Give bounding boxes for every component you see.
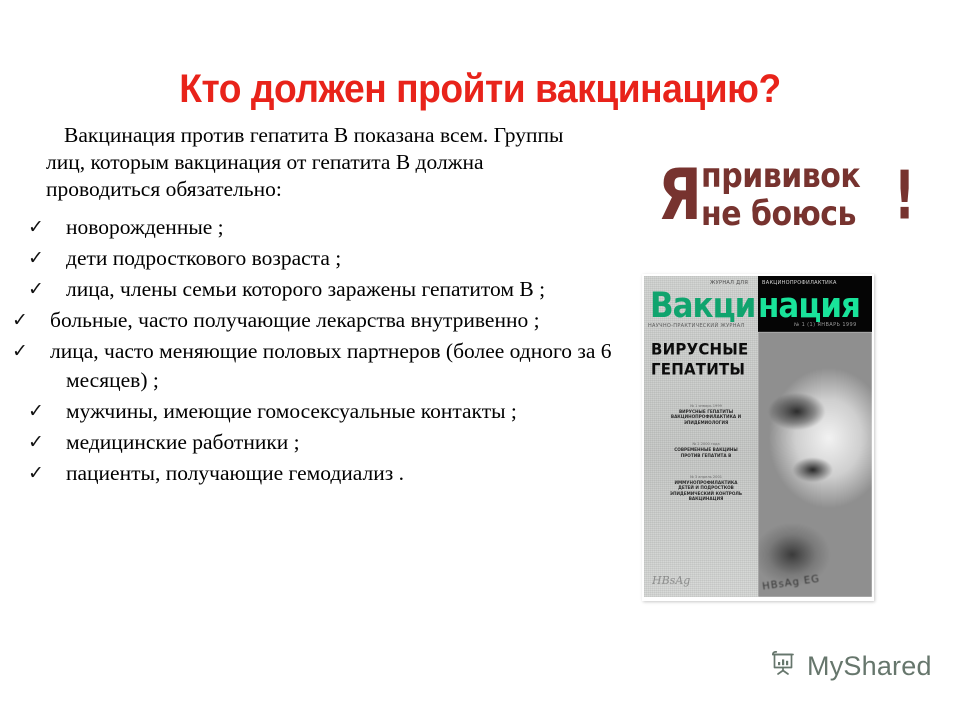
check-icon: ✓ [28, 397, 44, 426]
magazine-cover-inner: ЖУРНАЛ ДЛЯ Вакци НАУЧНО-ПРАКТИЧЕСКИЙ ЖУР… [644, 276, 872, 597]
slogan-artwork: Я прививок не боюсь ! [658, 158, 926, 246]
list-item: ✓ лица, члены семьи которого заражены ге… [18, 275, 628, 304]
slogan-big-letter: Я [658, 160, 702, 231]
myshared-label: MyShared [807, 651, 932, 681]
magazine-masthead-block: ВАКЦИНОПРОФИЛАКТИКА нация № 1 (1) ЯНВАРЬ… [758, 276, 872, 332]
magazine-masthead-right: нация [758, 288, 860, 325]
magazine-child-photo: HBsAg EG [758, 332, 872, 597]
list-item: ✓ новорожденные ; [18, 213, 628, 242]
check-icon: ✓ [28, 459, 44, 488]
list-item-label: мужчины, имеющие гомосексуальные контакт… [66, 399, 517, 423]
myshared-watermark: MyShared [768, 648, 932, 683]
list-item: ✓ дети подросткового возраста ; [18, 244, 628, 273]
content-column: Вакцинация против гепатита В показана вс… [18, 122, 628, 490]
list-item-label: медицинские работники ; [66, 430, 300, 454]
list-item-label: пациенты, получающие гемодиализ . [66, 461, 404, 485]
list-item-label: лица, члены семьи которого заражены гепа… [66, 277, 545, 301]
check-icon: ✓ [28, 213, 44, 242]
magazine-topic-line-two: ГЕПАТИТЫ [651, 360, 749, 380]
check-icon: ✓ [28, 244, 44, 273]
magazine-left-panel: ЖУРНАЛ ДЛЯ Вакци НАУЧНО-ПРАКТИЧЕСКИЙ ЖУР… [644, 276, 758, 597]
slogan-exclamation: ! [894, 160, 915, 231]
list-item-label: дети подросткового возраста ; [66, 246, 341, 270]
list-item-label: больные, часто получающие лекарства внут… [50, 308, 540, 332]
list-item: ✓ лица, часто меняющие половых партнеров… [18, 337, 628, 395]
presentation-chart-icon [768, 648, 798, 683]
list-item-label: лица, часто меняющие половых партнеров (… [50, 339, 612, 392]
magazine-blurbs: № 1 январь 1999 ВИРУСНЫЕ ГЕПАТИТЫ ВАКЦИН… [666, 404, 746, 519]
magazine-photo-marks: HBsAg EG [762, 565, 872, 594]
magazine-blurb-body: ВИРУСНЫЕ ГЕПАТИТЫ ВАКЦИНОПРОФИЛАКТИКА И … [666, 409, 746, 425]
magazine-scribble: HBsAg [652, 572, 752, 589]
magazine-issue-line: № 1 (1) ЯНВАРЬ 1999 [794, 322, 857, 328]
magazine-cover-image: ЖУРНАЛ ДЛЯ Вакци НАУЧНО-ПРАКТИЧЕСКИЙ ЖУР… [642, 274, 874, 601]
list-item-label: новорожденные ; [66, 215, 224, 239]
magazine-blurb: № 2 2000 года СОВРЕМЕННЫЕ ВАКЦИНЫ ПРОТИВ… [666, 442, 746, 458]
check-icon: ✓ [28, 428, 44, 457]
magazine-masthead-left: Вакци [650, 288, 755, 325]
magazine-topic: ВИРУСНЫЕ ГЕПАТИТЫ [651, 340, 749, 380]
requirement-list: ✓ новорожденные ; ✓ дети подросткового в… [18, 213, 628, 488]
magazine-blurb-body: ИММУНОПРОФИЛАКТИКА ДЕТЕЙ И ПОДРОСТКОВ ЭП… [666, 480, 746, 502]
magazine-rule-line: НАУЧНО-ПРАКТИЧЕСКИЙ ЖУРНАЛ [648, 323, 745, 329]
magazine-blurb-body: СОВРЕМЕННЫЕ ВАКЦИНЫ ПРОТИВ ГЕПАТИТА В [666, 447, 746, 458]
slogan-line-one: прививок [701, 158, 860, 196]
page-title: Кто должен пройти вакцинацию? [34, 65, 927, 113]
magazine-blurb: № 3 апрель 2001 ИММУНОПРОФИЛАКТИКА ДЕТЕЙ… [666, 475, 746, 502]
check-icon: ✓ [28, 275, 44, 304]
list-item: ✓ пациенты, получающие гемодиализ . [18, 459, 628, 488]
illustration-area: Я прививок не боюсь ! ЖУРНАЛ ДЛЯ Вакци Н… [630, 150, 950, 620]
list-item: ✓ медицинские работники ; [18, 428, 628, 457]
list-item: ✓ мужчины, имеющие гомосексуальные конта… [18, 397, 628, 426]
intro-paragraph: Вакцинация против гепатита В показана вс… [18, 122, 586, 203]
magazine-topic-line-one: ВИРУСНЫЕ [651, 340, 749, 360]
slogan-line-two: не боюсь [701, 196, 856, 234]
magazine-blurb: № 1 январь 1999 ВИРУСНЫЕ ГЕПАТИТЫ ВАКЦИН… [666, 404, 746, 425]
magazine-right-panel: ВАКЦИНОПРОФИЛАКТИКА нация № 1 (1) ЯНВАРЬ… [758, 276, 872, 597]
list-item: ✓ больные, часто получающие лекарства вн… [18, 306, 628, 335]
